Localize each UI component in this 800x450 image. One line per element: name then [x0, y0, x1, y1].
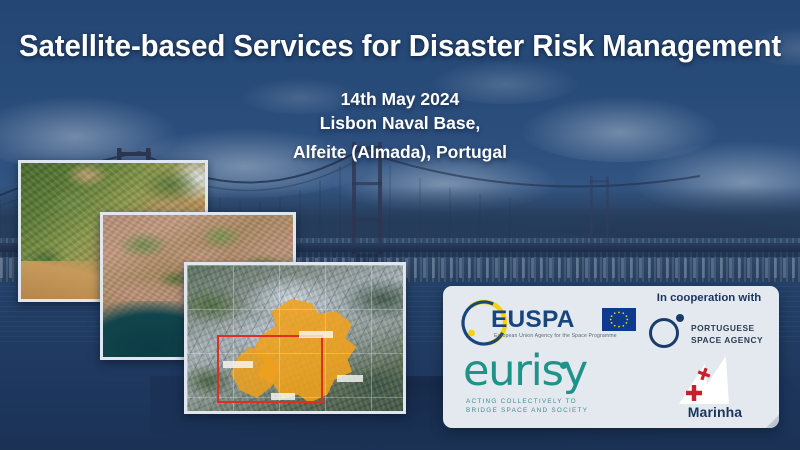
map-label-chip [337, 375, 363, 382]
portuguese-space-agency-orbit-icon [649, 318, 679, 348]
eurisy-tagline-line1: ACTING COLLECTIVELY TO [466, 398, 577, 405]
eurisy-wordmark: eurisy [463, 350, 587, 393]
portuguese-space-agency-logo: PORTUGUESE SPACE AGENCY [643, 312, 779, 356]
page-title: Satellite-based Services for Disaster Ri… [14, 29, 786, 64]
hazard-delineation-map [184, 262, 406, 414]
portuguese-space-agency-name-line1: PORTUGUESE [691, 323, 755, 333]
euspa-tagline: European Union Agency for the Space Prog… [494, 333, 617, 339]
eurisy-tagline-line2: BRIDGE SPACE AND SOCIETY [466, 407, 588, 414]
sponsor-logo-panel: EUSPA European Union Agency for the Spac… [443, 286, 779, 428]
map-label-chip [271, 393, 295, 400]
euspa-logo: EUSPA European Union Agency for the Spac… [455, 294, 637, 352]
eu-flag-icon [602, 308, 636, 331]
map-label-chip [223, 361, 253, 368]
cross-of-christ-icon [697, 367, 711, 381]
event-venue-line1: Lisbon Naval Base, [0, 113, 800, 134]
eurisy-logo: eurisy ACTING COLLECTIVELY TO BRIDGE SPA… [457, 354, 637, 420]
event-date: 14th May 2024 [0, 89, 800, 110]
organiser-logos: EUSPA European Union Agency for the Spac… [443, 286, 639, 428]
eurisy-i-dot [560, 362, 567, 369]
cooperation-logos: In cooperation with PORTUGUESE SPACE AGE… [639, 286, 779, 428]
portuguese-space-agency-satellite-dot-icon [676, 314, 684, 322]
area-of-interest-box [217, 335, 323, 403]
cooperation-label: In cooperation with [639, 292, 779, 304]
cross-of-christ-icon [685, 384, 703, 402]
map-label-chip [299, 331, 333, 338]
portuguese-space-agency-name-line2: SPACE AGENCY [691, 335, 763, 345]
euspa-wordmark: EUSPA [491, 306, 575, 334]
marinha-wordmark: Marinha [667, 404, 763, 420]
marinha-logo: Marinha [653, 358, 773, 424]
